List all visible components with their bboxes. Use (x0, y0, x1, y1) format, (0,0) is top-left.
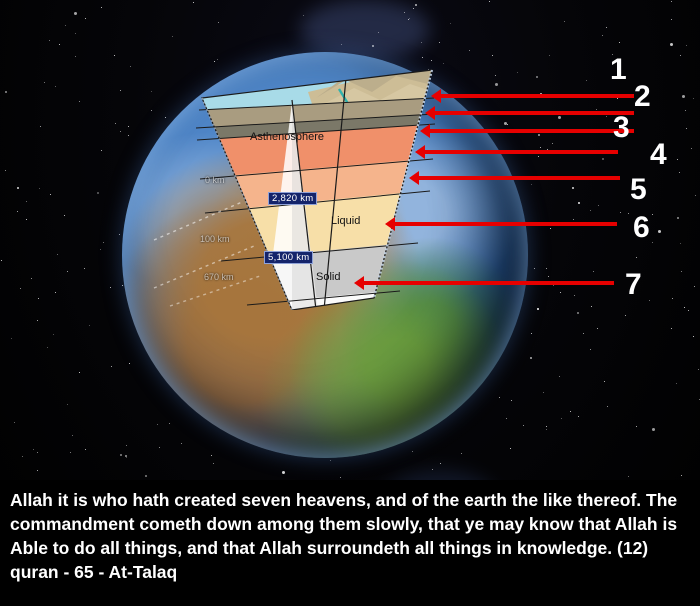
callout-number-1: 1 (610, 55, 627, 85)
star (636, 426, 637, 427)
star (538, 156, 539, 157)
callout-arrow-3 (429, 129, 634, 133)
star (17, 187, 19, 189)
star (617, 98, 618, 99)
star (537, 308, 539, 310)
star (590, 210, 591, 211)
star (115, 123, 116, 124)
star (686, 128, 687, 129)
star (181, 443, 182, 444)
star (40, 126, 41, 127)
star (695, 195, 696, 196)
star (693, 336, 694, 337)
star (552, 143, 553, 144)
star (504, 122, 507, 125)
callout-arrow-7 (363, 281, 614, 285)
star (677, 159, 678, 160)
star (145, 475, 147, 477)
star (489, 1, 490, 2)
star (413, 8, 414, 9)
star (510, 448, 511, 449)
star (103, 242, 104, 243)
star (698, 369, 699, 370)
star (670, 43, 673, 46)
star (688, 310, 689, 311)
star (604, 381, 605, 382)
star (684, 307, 685, 308)
callout-arrow-1 (440, 94, 634, 98)
star (412, 451, 413, 452)
star (652, 214, 653, 215)
star (530, 357, 532, 359)
star (415, 4, 417, 6)
star (55, 86, 56, 87)
star (120, 90, 121, 91)
callout-number-3: 3 (613, 113, 630, 143)
callout-number-5: 5 (630, 175, 647, 205)
star (620, 212, 621, 213)
star (693, 98, 694, 99)
star (671, 19, 672, 20)
star (636, 257, 637, 258)
star (652, 242, 653, 243)
star (421, 42, 422, 43)
star (578, 416, 579, 417)
star (303, 15, 304, 16)
star (84, 268, 85, 269)
star (159, 447, 160, 448)
star (546, 429, 547, 430)
star (1, 260, 2, 261)
star (111, 366, 112, 367)
star (450, 23, 451, 24)
star (37, 470, 38, 471)
star (681, 271, 682, 272)
star (97, 192, 99, 194)
star (14, 422, 15, 423)
star (59, 44, 60, 45)
star (120, 131, 121, 132)
star (282, 471, 285, 474)
star (20, 288, 21, 289)
star (5, 170, 6, 171)
star (340, 477, 341, 478)
star (511, 400, 512, 401)
star (218, 22, 219, 23)
star (548, 276, 549, 277)
star (531, 184, 532, 185)
star (57, 254, 58, 255)
star (128, 135, 129, 136)
star (443, 63, 444, 64)
star (523, 425, 524, 426)
star (26, 219, 27, 220)
star (72, 435, 73, 436)
star (573, 219, 574, 220)
star (596, 109, 597, 110)
callout-number-6: 6 (633, 213, 650, 243)
star (685, 110, 686, 111)
star (559, 376, 560, 377)
star (89, 325, 90, 326)
star (37, 452, 38, 453)
star (591, 306, 592, 307)
star (546, 268, 547, 269)
star (540, 147, 541, 148)
star (686, 45, 687, 46)
star (602, 158, 604, 160)
star (409, 18, 410, 19)
star (119, 234, 120, 235)
star (461, 453, 462, 454)
star (682, 95, 685, 98)
star (85, 18, 86, 19)
star (558, 116, 561, 119)
star (679, 172, 680, 173)
callout-arrow-6 (394, 222, 617, 226)
star (378, 32, 379, 33)
star (593, 271, 594, 272)
star (507, 124, 508, 125)
star (495, 75, 496, 76)
star (506, 418, 507, 419)
star (676, 383, 677, 384)
star (586, 80, 587, 81)
caption-text: Allah it is who hath created seven heave… (0, 480, 700, 584)
callout-number-7: 7 (625, 270, 642, 300)
star (122, 285, 123, 286)
star (440, 463, 441, 464)
star (499, 397, 500, 398)
star (578, 202, 580, 204)
star (408, 19, 409, 20)
star (53, 334, 54, 335)
star (17, 211, 18, 212)
star (64, 215, 65, 216)
star (126, 457, 127, 458)
star (590, 349, 591, 350)
wedge-label-0: Asthenosphere (250, 131, 324, 143)
star (671, 1, 672, 2)
star (74, 12, 77, 15)
star (193, 2, 194, 3)
star (157, 424, 158, 425)
star (531, 333, 532, 334)
callout-arrow-4 (424, 150, 618, 154)
star (597, 328, 598, 329)
star (31, 278, 32, 279)
star (85, 449, 86, 450)
star (652, 428, 655, 431)
star (5, 91, 7, 93)
star (560, 292, 561, 293)
star (607, 406, 608, 407)
star (169, 423, 170, 424)
callout-number-2: 2 (634, 82, 651, 112)
star (110, 287, 111, 288)
star (549, 55, 550, 56)
star (125, 455, 127, 457)
star (404, 12, 405, 13)
star (165, 117, 166, 118)
star (39, 188, 40, 189)
star (543, 392, 544, 393)
star (129, 363, 130, 364)
star (38, 298, 39, 299)
star (67, 404, 68, 405)
star (439, 42, 440, 43)
star (75, 56, 76, 57)
star (628, 213, 629, 214)
star (534, 268, 535, 269)
nebula-glow (300, 0, 430, 60)
star (151, 91, 152, 92)
star (75, 33, 76, 34)
star (372, 45, 374, 47)
star (564, 21, 565, 22)
star (492, 55, 493, 56)
star (22, 456, 23, 457)
star (341, 44, 342, 45)
star (151, 110, 152, 111)
star (602, 35, 603, 36)
star (606, 116, 607, 117)
star (598, 205, 599, 206)
star (79, 101, 80, 102)
star (583, 333, 584, 334)
star (691, 148, 692, 149)
star (694, 286, 695, 287)
callout-arrow-2 (434, 111, 634, 115)
callout-number-4: 4 (650, 140, 667, 170)
star (211, 455, 212, 456)
star (672, 298, 673, 299)
star (26, 201, 27, 202)
star (625, 315, 626, 316)
star (101, 7, 102, 8)
star (649, 300, 650, 301)
star (536, 76, 538, 78)
callout-arrow-5 (418, 176, 620, 180)
depth-guide-lines (150, 180, 270, 310)
star (619, 42, 620, 43)
star (677, 217, 679, 219)
star (546, 426, 547, 427)
star (495, 83, 498, 86)
star (561, 418, 562, 419)
star (49, 40, 50, 41)
star (671, 328, 672, 329)
star (330, 460, 331, 461)
star (606, 27, 607, 28)
wedge-label-2: Solid (316, 271, 340, 283)
star (538, 134, 540, 136)
star (100, 249, 101, 250)
star (67, 271, 68, 272)
star (120, 454, 122, 456)
star (101, 150, 102, 151)
star (577, 312, 579, 314)
star (517, 72, 518, 73)
star (33, 449, 34, 450)
star (50, 194, 51, 195)
star (432, 469, 433, 470)
star (213, 463, 214, 464)
image-canvas: AsthenosphereLiquidSolid 2,820 km5,100 k… (0, 0, 700, 606)
star (628, 476, 629, 477)
star (550, 228, 551, 229)
star (553, 285, 554, 286)
star (681, 475, 682, 476)
star (11, 338, 12, 339)
star (114, 55, 115, 56)
star (574, 295, 575, 296)
star (130, 66, 131, 67)
star (469, 50, 470, 51)
star (55, 292, 56, 293)
wedge-label-1: Liquid (331, 215, 360, 227)
star (126, 445, 127, 446)
star (65, 25, 66, 26)
star (128, 126, 129, 127)
star (680, 243, 681, 244)
star (658, 230, 661, 233)
star (47, 347, 48, 348)
star (572, 187, 574, 189)
star (70, 452, 71, 453)
caption-band: Allah it is who hath created seven heave… (0, 480, 700, 606)
star (680, 55, 681, 56)
depth-chip-0: 2,820 km (268, 192, 317, 205)
star (79, 372, 80, 373)
star (44, 82, 45, 83)
star (172, 36, 173, 37)
star (570, 411, 571, 412)
star (37, 320, 38, 321)
depth-chip-1: 5,100 km (264, 251, 313, 264)
